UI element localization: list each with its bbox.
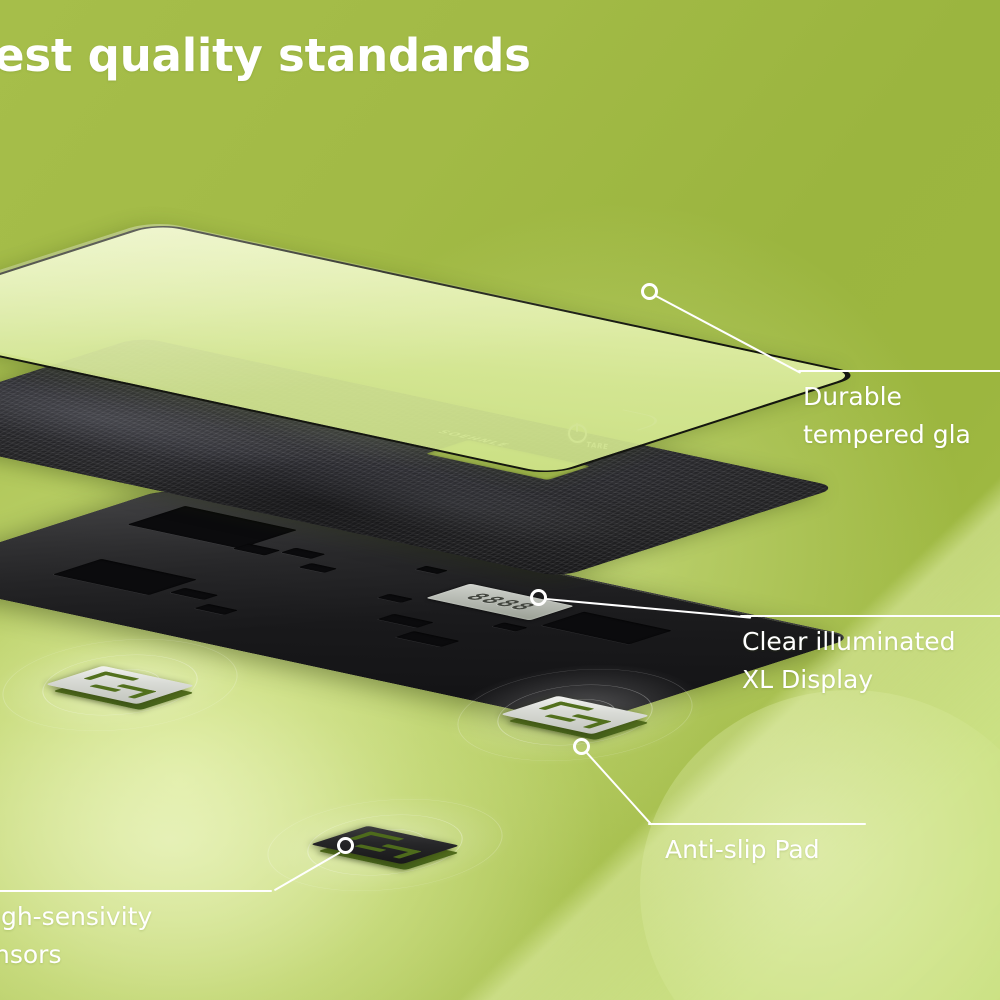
sensor-slot [392,850,421,859]
callout-label-line1: igh-sensivity [0,901,152,933]
sensor-slot [538,701,567,710]
layer-tempered-glass [0,150,720,480]
callout-dot[interactable] [641,283,658,300]
sensor-node-left [0,555,250,815]
callout-label-line2: nsors [0,939,61,971]
sensor-slot [348,831,377,840]
callout-label-line2: tempered gla [803,419,971,451]
sensor-slot [582,720,611,729]
sensor-node-bottom [255,715,515,975]
callout-label-line2: XL Display [742,664,873,696]
tempered-glass-plate [0,222,865,476]
callout-label-line1: Clear illuminated [742,626,956,658]
callout-dot[interactable] [530,589,547,606]
callout-label-line1: Anti-slip Pad [665,834,820,866]
infographic-canvas: est quality standards [0,0,1000,1000]
product-exploded-view: 8888 SOEHNLE TARE [0,0,1000,1000]
sensor-slot [83,671,112,680]
callout-label-line1: Durable [803,381,902,413]
sensor-slot [127,690,156,699]
